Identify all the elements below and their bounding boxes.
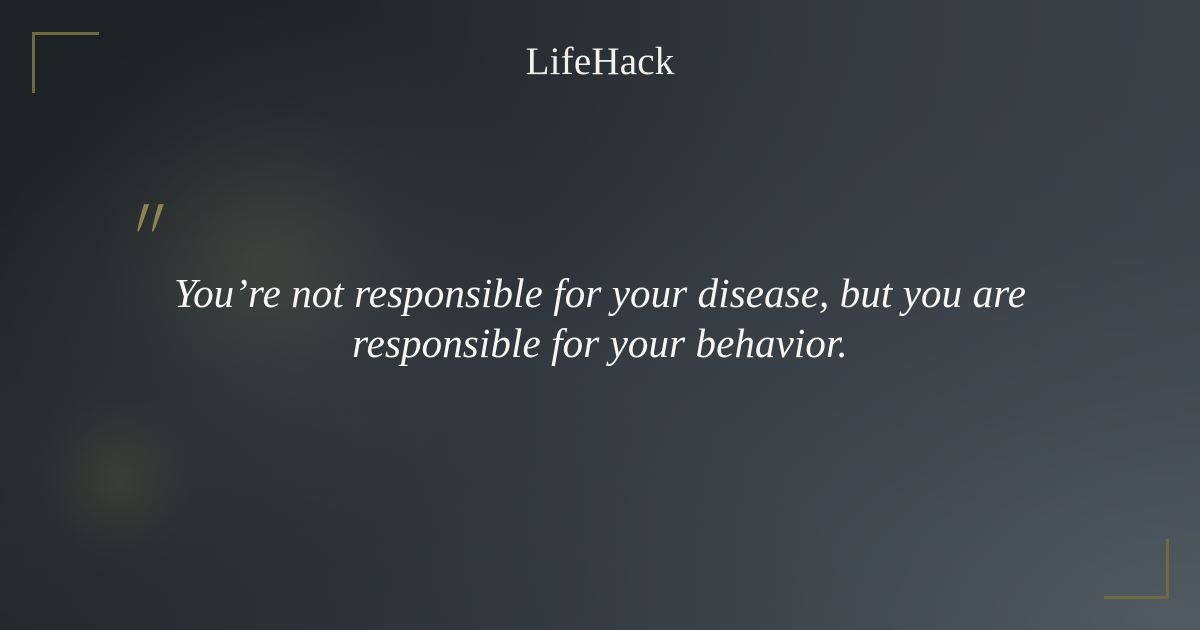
corner-bracket-bottom-right [1104,539,1169,599]
lifehack-logo: LifeHack [0,40,1200,84]
quote-text: You’re not responsible for your disease,… [130,268,1070,368]
double-prime-quote-icon [133,198,177,244]
quote-card: LifeHack You’re not responsible for your… [0,0,1200,630]
corner-bracket-bottom-right-horizontal [1104,596,1169,599]
corner-bracket-top-left-horizontal [32,32,99,35]
corner-bracket-bottom-right-vertical [1166,539,1169,599]
quote-block: You’re not responsible for your disease,… [130,268,1070,368]
